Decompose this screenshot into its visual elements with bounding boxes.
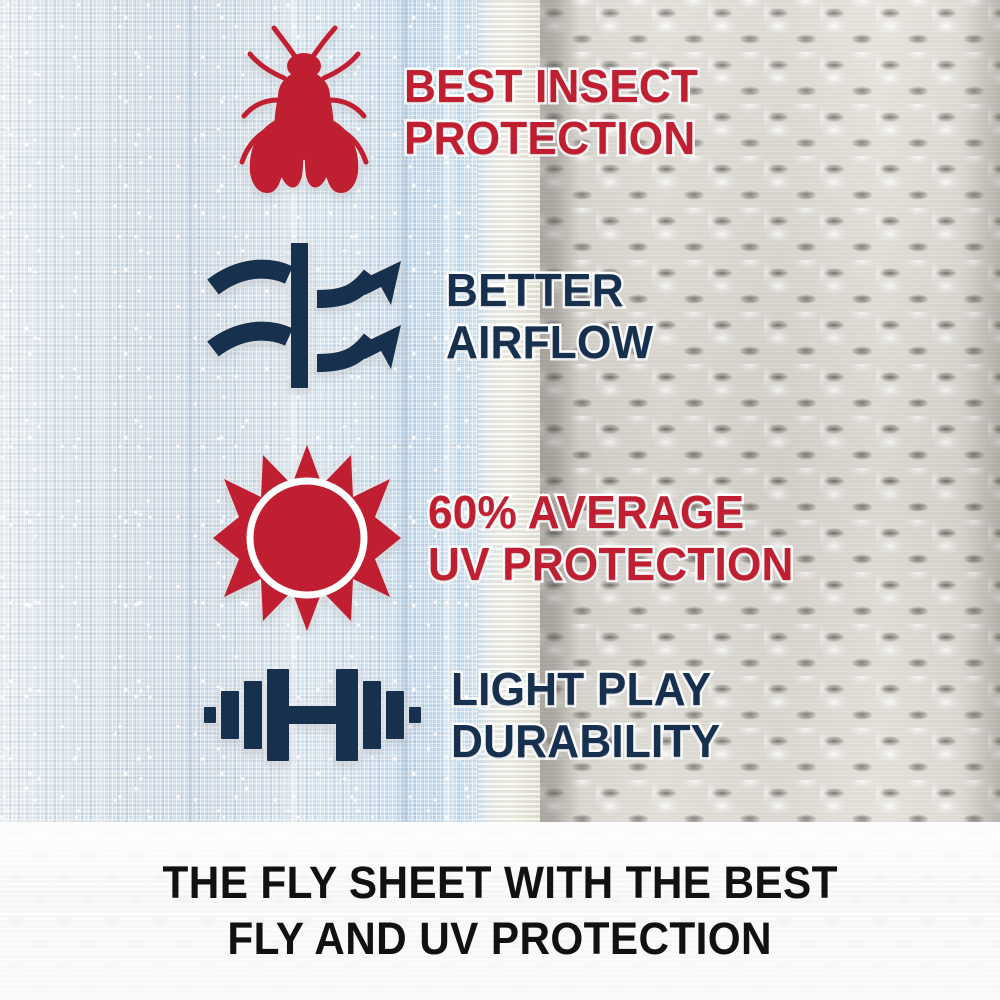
- fly-icon: [228, 22, 378, 202]
- feature-row-light-play-durability: LIGHT PLAY DURABILITY: [200, 663, 732, 767]
- fly-icon-box: [228, 22, 378, 202]
- feature-line-2: UV PROTECTION: [428, 538, 794, 590]
- feature-line-1: 60% AVERAGE: [428, 486, 794, 538]
- feature-line-2: PROTECTION: [404, 112, 698, 164]
- feature-text-insect-protection: BEST INSECT PROTECTION: [404, 60, 710, 164]
- dumbbell-left-plate-3: [267, 669, 289, 761]
- bottom-banner: THE FLY SHEET WITH THE BEST FLY AND UV P…: [0, 822, 1000, 1000]
- dumbbell-left-plate-2: [244, 681, 262, 749]
- banner-text-block: THE FLY SHEET WITH THE BEST FLY AND UV P…: [0, 822, 1000, 1000]
- feature-text-uv-protection: 60% AVERAGE UV PROTECTION: [428, 486, 809, 590]
- dumbbell-icon: [200, 665, 425, 765]
- airflow-line-top: [213, 269, 289, 287]
- airflow-line-bottom: [213, 331, 289, 349]
- feature-text-light-play-durability: LIGHT PLAY DURABILITY: [451, 663, 732, 767]
- airflow-arrow-top: [317, 261, 401, 305]
- feature-line-1: LIGHT PLAY: [451, 663, 720, 715]
- feature-row-uv-protection: 60% AVERAGE UV PROTECTION: [212, 443, 809, 633]
- airflow-icon-box: [205, 243, 420, 388]
- banner-line-1: THE FLY SHEET WITH THE BEST: [162, 856, 837, 910]
- feature-line-1: BEST INSECT: [404, 60, 698, 112]
- dumbbell-bar: [289, 706, 336, 724]
- sun-disc: [254, 485, 360, 591]
- airflow-icon: [205, 243, 420, 388]
- dumbbell-left-cap: [204, 707, 216, 723]
- dumbbell-right-cap: [409, 707, 421, 723]
- dumbbell-left-plate-1: [221, 691, 239, 739]
- dumbbell-right-plate-2: [363, 681, 381, 749]
- airflow-arrow-bottom: [317, 325, 401, 369]
- feature-line-2: AIRFLOW: [446, 316, 653, 368]
- feature-row-better-airflow: BETTER AIRFLOW: [205, 243, 662, 388]
- banner-line-2: FLY AND UV PROTECTION: [228, 912, 773, 966]
- dumbbell-right-plate-3: [336, 669, 358, 761]
- sun-icon-box: [212, 443, 402, 633]
- feature-line-1: BETTER: [446, 264, 653, 316]
- airflow-barrier-bar: [291, 243, 308, 388]
- feature-text-better-airflow: BETTER AIRFLOW: [446, 264, 662, 368]
- sun-icon: [212, 443, 402, 633]
- product-infographic: BEST INSECT PROTECTION: [0, 0, 1000, 1000]
- dumbbell-right-plate-1: [386, 691, 404, 739]
- dumbbell-icon-box: [200, 665, 425, 765]
- feature-row-insect-protection: BEST INSECT PROTECTION: [228, 22, 710, 202]
- fly-abdomen: [277, 92, 331, 160]
- feature-line-2: DURABILITY: [451, 715, 720, 767]
